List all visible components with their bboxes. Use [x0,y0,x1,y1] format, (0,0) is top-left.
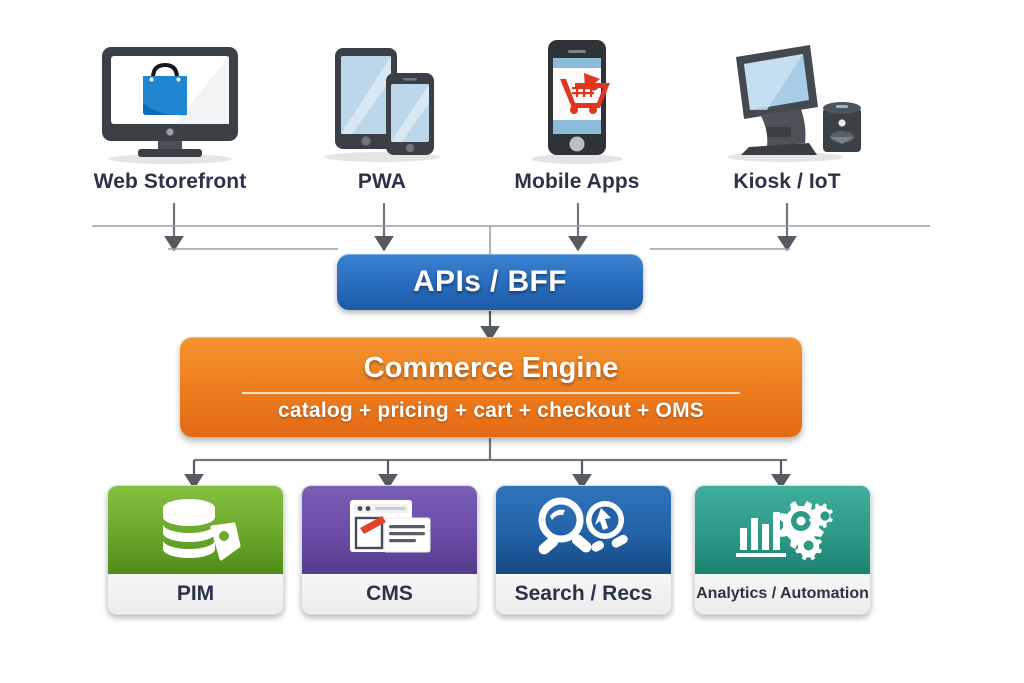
architecture-diagram: Web Storefront PWA [0,0,1024,683]
database-price-tag-icon [108,486,283,574]
commerce-engine-title: Commerce Engine [364,352,619,385]
channel-label: Kiosk / IoT [697,170,877,194]
service-card-pim[interactable]: PIM [107,485,284,615]
service-card-cms[interactable]: CMS [301,485,478,615]
service-card-footer: Analytics / Automation [695,574,870,613]
channel-kiosk-iot[interactable]: Kiosk / IoT [697,35,877,194]
service-label: Search / Recs [515,582,653,606]
smartphone-shopping-cart-icon [487,35,667,170]
channel-label: Mobile Apps [487,170,667,194]
channel-label: Web Storefront [80,170,260,194]
apis-bff-box[interactable]: APIs / BFF [337,254,643,310]
service-card-footer: CMS [302,574,477,613]
tablet-phone-icon [292,35,472,170]
service-card-search-recs[interactable]: Search / Recs [495,485,672,615]
service-card-footer: Search / Recs [496,574,671,613]
channel-label: PWA [292,170,472,194]
commerce-engine-subtitle: catalog + pricing + cart + checkout + OM… [278,399,704,423]
service-label: PIM [177,582,214,606]
commerce-engine-box[interactable]: Commerce Engine catalog + pricing + cart… [180,337,802,437]
kiosk-terminal-iot-device-icon [697,35,877,170]
service-card-footer: PIM [108,574,283,613]
service-label: Analytics / Automation [696,585,869,603]
service-label: CMS [366,582,413,606]
bar-chart-gears-icon [695,486,870,574]
channel-pwa[interactable]: PWA [292,35,472,194]
apis-bff-label: APIs / BFF [413,265,567,299]
service-card-analytics-automation[interactable]: Analytics / Automation [694,485,871,615]
desktop-monitor-shopping-bag-icon [80,35,260,170]
channel-mobile-apps[interactable]: Mobile Apps [487,35,667,194]
magnifier-cursor-icon [496,486,671,574]
browser-window-pen-icon [302,486,477,574]
channel-web-storefront[interactable]: Web Storefront [80,35,260,194]
divider [242,392,740,394]
